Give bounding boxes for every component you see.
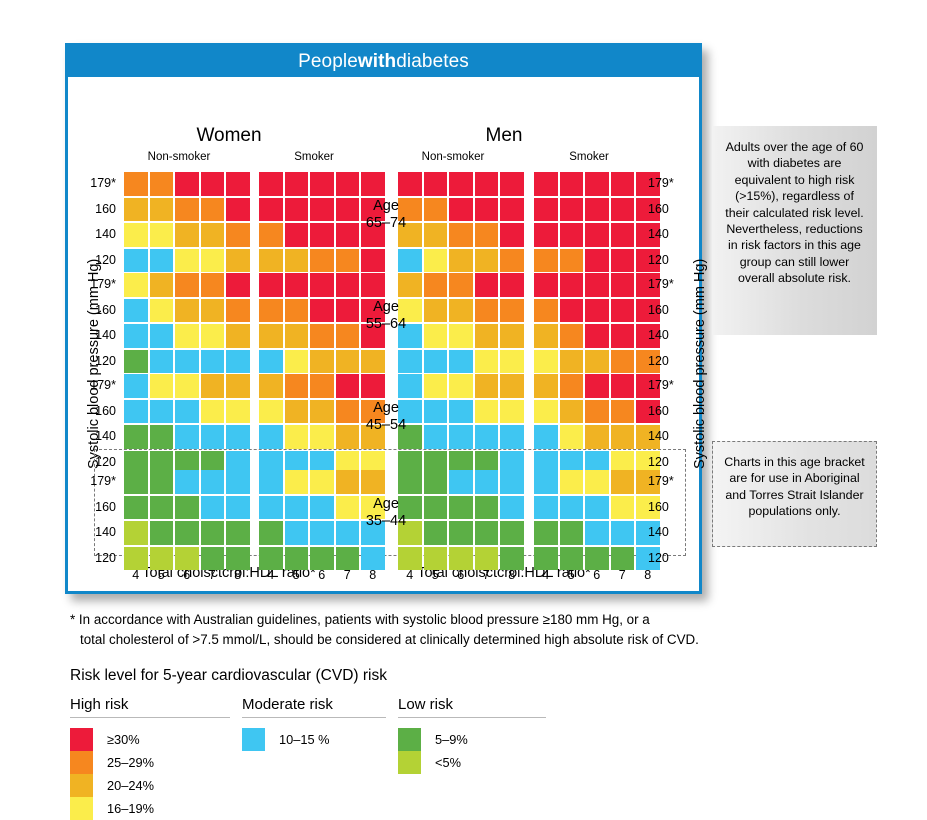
risk-cell xyxy=(475,273,499,297)
y-tick-label: 160 xyxy=(76,400,116,424)
risk-cell xyxy=(150,496,174,520)
risk-cell xyxy=(124,324,148,348)
x-tick-label: 7 xyxy=(336,568,360,582)
risk-cell xyxy=(285,198,309,222)
risk-cell xyxy=(201,172,225,196)
y-tick-label: 140 xyxy=(648,223,688,247)
risk-cell xyxy=(534,400,558,424)
risk-cell xyxy=(449,299,473,323)
x-tick-label: 6 xyxy=(449,568,473,582)
risk-cell xyxy=(611,249,635,273)
risk-cell xyxy=(361,350,385,374)
risk-cell xyxy=(534,299,558,323)
risk-cell xyxy=(475,374,499,398)
risk-cell xyxy=(124,299,148,323)
legend-items-low-risk: 5–9%<5% xyxy=(398,718,546,774)
legend-item: 20–24% xyxy=(70,774,230,797)
risk-cell xyxy=(611,223,635,247)
risk-cell xyxy=(500,249,524,273)
risk-cell xyxy=(398,350,422,374)
risk-cell xyxy=(475,400,499,424)
footnote-line-1: * In accordance with Australian guidelin… xyxy=(70,612,650,627)
risk-cell xyxy=(475,496,499,520)
risk-cell xyxy=(449,172,473,196)
risk-cell xyxy=(150,324,174,348)
risk-cell xyxy=(285,470,309,494)
risk-cell xyxy=(534,324,558,348)
risk-cell xyxy=(150,198,174,222)
risk-cell xyxy=(361,374,385,398)
y-axis-title-right: Systolic blood pressure (mm Hg) xyxy=(692,259,708,469)
risk-cell xyxy=(175,324,199,348)
risk-cell xyxy=(611,374,635,398)
risk-cell xyxy=(226,374,250,398)
risk-grid-women-nonsmoker-age-55-64 xyxy=(124,273,250,373)
risk-cell xyxy=(310,249,334,273)
risk-cell xyxy=(201,223,225,247)
legend-label: 20–24% xyxy=(107,778,154,793)
risk-cell xyxy=(500,273,524,297)
legend-column-low-risk: Low risk 5–9%<5% xyxy=(398,696,546,820)
y-tick-label: 140 xyxy=(648,324,688,348)
risk-cell xyxy=(310,470,334,494)
risk-cell xyxy=(285,172,309,196)
risk-cell xyxy=(175,374,199,398)
y-tick-label: 120 xyxy=(76,350,116,374)
risk-cell xyxy=(150,273,174,297)
risk-cell xyxy=(285,521,309,545)
legend-item: ≥30% xyxy=(70,728,230,751)
risk-cell xyxy=(226,400,250,424)
risk-cell xyxy=(175,223,199,247)
legend-column-high-risk: High risk ≥30%25–29%20–24%16–19% xyxy=(70,696,230,820)
y-tick-label: 160 xyxy=(648,400,688,424)
risk-cell xyxy=(226,470,250,494)
y-tick-label: 140 xyxy=(648,521,688,545)
risk-cell xyxy=(475,198,499,222)
risk-cell xyxy=(424,496,448,520)
risk-cell xyxy=(611,400,635,424)
risk-cell xyxy=(259,496,283,520)
legend-label: 25–29% xyxy=(107,755,154,770)
risk-cell xyxy=(424,425,448,449)
risk-cell xyxy=(475,172,499,196)
legend-swatch xyxy=(242,728,265,751)
risk-cell xyxy=(534,496,558,520)
y-tick-label: 179* xyxy=(648,273,688,297)
risk-cell xyxy=(500,350,524,374)
risk-cell xyxy=(585,374,609,398)
legend-heading-moderate-risk: Moderate risk xyxy=(242,696,386,718)
risk-cell xyxy=(500,470,524,494)
y-tick-label: 140 xyxy=(76,324,116,348)
risk-cell xyxy=(424,470,448,494)
y-tick-label: 160 xyxy=(76,299,116,323)
y-tick-label: 179* xyxy=(76,172,116,196)
risk-cell xyxy=(310,198,334,222)
risk-cell xyxy=(336,547,360,571)
risk-cell xyxy=(560,350,584,374)
risk-cell xyxy=(449,350,473,374)
y-tick-label: 140 xyxy=(76,223,116,247)
risk-cell xyxy=(585,496,609,520)
y-tick-label: 120 xyxy=(76,249,116,273)
legend-label: <5% xyxy=(435,755,461,770)
legend-items-high-risk: ≥30%25–29%20–24%16–19% xyxy=(70,718,230,820)
risk-cell xyxy=(124,470,148,494)
legend-item: <5% xyxy=(398,751,546,774)
risk-cell xyxy=(150,299,174,323)
risk-cell xyxy=(310,400,334,424)
card-title-emphasis: with xyxy=(358,51,396,73)
legend-item: 10–15 % xyxy=(242,728,386,751)
risk-cell xyxy=(500,374,524,398)
risk-cell xyxy=(534,425,558,449)
card-body: Women Men Non-smoker Smoker Non-smoker S… xyxy=(68,77,699,591)
risk-cell xyxy=(226,350,250,374)
risk-cell xyxy=(449,249,473,273)
age-label-line-1: Age xyxy=(346,496,426,513)
x-tick-row: 45678 xyxy=(259,568,385,582)
risk-cell xyxy=(310,350,334,374)
risk-cell xyxy=(475,425,499,449)
risk-cell xyxy=(560,400,584,424)
risk-cell xyxy=(150,350,174,374)
x-tick-label: 6 xyxy=(175,568,199,582)
risk-cell xyxy=(201,547,225,571)
risk-cell xyxy=(201,374,225,398)
y-tick-column-left: 179*160140120 xyxy=(76,374,116,474)
y-tick-label: 160 xyxy=(76,198,116,222)
risk-cell xyxy=(585,400,609,424)
risk-grid-men-smoker-age-45-54 xyxy=(534,374,660,474)
y-tick-label: 179* xyxy=(76,470,116,494)
legend-label: 10–15 % xyxy=(279,732,330,747)
risk-cell xyxy=(124,496,148,520)
legend-swatch xyxy=(70,797,93,820)
risk-cell xyxy=(124,521,148,545)
x-tick-label: 8 xyxy=(361,568,385,582)
y-tick-label: 160 xyxy=(648,198,688,222)
risk-cell xyxy=(259,249,283,273)
risk-cell xyxy=(150,223,174,247)
risk-cell xyxy=(585,299,609,323)
legend-column-moderate-risk: Moderate risk 10–15 % xyxy=(242,696,386,820)
y-tick-label: 160 xyxy=(648,496,688,520)
risk-cell xyxy=(500,521,524,545)
risk-cell xyxy=(150,400,174,424)
risk-cell xyxy=(175,350,199,374)
x-tick-label: 4 xyxy=(124,568,148,582)
legend-item: 5–9% xyxy=(398,728,546,751)
risk-cell xyxy=(285,350,309,374)
risk-cell xyxy=(611,470,635,494)
risk-cell xyxy=(475,521,499,545)
risk-cell xyxy=(560,198,584,222)
risk-cell xyxy=(336,374,360,398)
y-tick-column-right: 179*160140120 xyxy=(648,470,688,570)
risk-cell xyxy=(424,198,448,222)
risk-cell xyxy=(534,547,558,571)
risk-cell xyxy=(611,547,635,571)
risk-cell xyxy=(361,249,385,273)
risk-cell xyxy=(560,249,584,273)
risk-cell xyxy=(398,249,422,273)
risk-cell xyxy=(449,223,473,247)
risk-cell xyxy=(449,400,473,424)
risk-cell xyxy=(124,350,148,374)
risk-cell xyxy=(124,223,148,247)
risk-cell xyxy=(124,374,148,398)
y-tick-label: 140 xyxy=(648,425,688,449)
x-tick-row: 45678 xyxy=(124,568,250,582)
risk-cell xyxy=(500,425,524,449)
legend-swatch xyxy=(70,751,93,774)
risk-cell xyxy=(475,223,499,247)
risk-cell xyxy=(449,547,473,571)
risk-cell xyxy=(259,223,283,247)
risk-cell xyxy=(150,470,174,494)
x-tick-label: 5 xyxy=(560,568,584,582)
x-tick-label: 5 xyxy=(150,568,174,582)
risk-cell xyxy=(150,374,174,398)
risk-cell xyxy=(560,470,584,494)
legend-item: 16–19% xyxy=(70,797,230,820)
x-tick-label: 6 xyxy=(585,568,609,582)
risk-cell xyxy=(585,273,609,297)
risk-cell xyxy=(611,172,635,196)
risk-cell xyxy=(560,496,584,520)
legend-heading-low-risk: Low risk xyxy=(398,696,546,718)
heading-women: Women xyxy=(114,125,344,147)
y-tick-label: 179* xyxy=(76,374,116,398)
risk-cell xyxy=(310,273,334,297)
legend-label: 5–9% xyxy=(435,732,468,747)
heading-women-non-smoker: Non-smoker xyxy=(124,151,234,163)
age-label-line-2: 45–54 xyxy=(346,417,426,434)
legend-swatch xyxy=(398,751,421,774)
risk-cell xyxy=(585,425,609,449)
age-label-line-1: Age xyxy=(346,198,426,215)
risk-cell xyxy=(585,547,609,571)
risk-cell xyxy=(285,249,309,273)
risk-cell xyxy=(226,299,250,323)
y-tick-label: 120 xyxy=(76,547,116,571)
risk-cell xyxy=(226,273,250,297)
x-tick-row: 45678 xyxy=(398,568,524,582)
risk-cell xyxy=(175,299,199,323)
risk-cell xyxy=(449,496,473,520)
risk-cell xyxy=(175,172,199,196)
risk-cell xyxy=(611,521,635,545)
risk-cell xyxy=(361,172,385,196)
risk-cell xyxy=(449,425,473,449)
risk-cell xyxy=(611,273,635,297)
risk-cell xyxy=(201,496,225,520)
risk-cell xyxy=(500,198,524,222)
x-tick-label: 6 xyxy=(310,568,334,582)
risk-cell xyxy=(150,425,174,449)
footnote: * In accordance with Australian guidelin… xyxy=(70,610,770,650)
risk-cell xyxy=(449,374,473,398)
risk-cell xyxy=(124,547,148,571)
risk-cell xyxy=(175,496,199,520)
risk-cell xyxy=(424,324,448,348)
risk-cell xyxy=(124,249,148,273)
y-tick-column-right: 179*160140120 xyxy=(648,374,688,474)
risk-cell xyxy=(285,223,309,247)
risk-cell xyxy=(175,400,199,424)
risk-cell xyxy=(560,374,584,398)
y-tick-column-right: 179*160140120 xyxy=(648,273,688,373)
risk-cell xyxy=(398,547,422,571)
legend-swatch xyxy=(398,728,421,751)
risk-grid-women-nonsmoker-age-35-44 xyxy=(124,470,250,570)
y-tick-label: 140 xyxy=(76,425,116,449)
risk-cell xyxy=(226,521,250,545)
risk-cell xyxy=(201,400,225,424)
risk-cell xyxy=(124,400,148,424)
risk-cell xyxy=(361,547,385,571)
legend: Risk level for 5-year cardiovascular (CV… xyxy=(70,667,570,820)
risk-cell xyxy=(560,172,584,196)
risk-cell xyxy=(310,299,334,323)
risk-cell xyxy=(175,470,199,494)
risk-cell xyxy=(259,299,283,323)
risk-cell xyxy=(175,425,199,449)
risk-cell xyxy=(500,547,524,571)
risk-cell xyxy=(259,400,283,424)
risk-cell xyxy=(150,172,174,196)
legend-title: Risk level for 5-year cardiovascular (CV… xyxy=(70,667,570,685)
risk-cell xyxy=(175,521,199,545)
risk-cell xyxy=(124,425,148,449)
risk-cell xyxy=(226,425,250,449)
risk-cell xyxy=(534,521,558,545)
y-tick-column-left: 179*160140120 xyxy=(76,470,116,570)
card-title-prefix: People xyxy=(298,51,358,73)
heading-men: Men xyxy=(389,125,619,147)
legend-heading-high-risk: High risk xyxy=(70,696,230,718)
risk-cell xyxy=(285,425,309,449)
y-tick-label: 179* xyxy=(648,470,688,494)
risk-cell xyxy=(226,324,250,348)
risk-cell xyxy=(150,521,174,545)
risk-cell xyxy=(259,374,283,398)
risk-cell xyxy=(259,198,283,222)
risk-grid-men-smoker-age-65-74 xyxy=(534,172,660,272)
risk-cell xyxy=(424,547,448,571)
risk-cell xyxy=(336,273,360,297)
risk-cell xyxy=(534,223,558,247)
risk-cell xyxy=(336,350,360,374)
x-tick-label: 4 xyxy=(398,568,422,582)
x-tick-label: 8 xyxy=(226,568,250,582)
heading-men-smoker: Smoker xyxy=(534,151,644,163)
risk-cell xyxy=(475,547,499,571)
age-label-35-44: Age35–44 xyxy=(346,496,426,530)
y-tick-label: 160 xyxy=(648,299,688,323)
risk-cell xyxy=(361,470,385,494)
risk-cell xyxy=(534,172,558,196)
risk-cell xyxy=(500,223,524,247)
risk-cell xyxy=(611,350,635,374)
risk-cell xyxy=(560,223,584,247)
y-tick-label: 120 xyxy=(648,249,688,273)
risk-cell xyxy=(310,223,334,247)
risk-cell xyxy=(475,324,499,348)
risk-cell xyxy=(424,249,448,273)
x-tick-label: 7 xyxy=(611,568,635,582)
risk-cell xyxy=(259,425,283,449)
risk-cell xyxy=(611,324,635,348)
legend-label: ≥30% xyxy=(107,732,140,747)
risk-cell xyxy=(201,299,225,323)
x-tick-row: 45678 xyxy=(534,568,660,582)
risk-cell xyxy=(398,172,422,196)
risk-cell xyxy=(201,249,225,273)
risk-cell xyxy=(449,521,473,545)
heading-women-smoker: Smoker xyxy=(259,151,369,163)
risk-cell xyxy=(475,249,499,273)
y-tick-label: 179* xyxy=(648,374,688,398)
age-label-line-2: 35–44 xyxy=(346,513,426,530)
y-tick-label: 120 xyxy=(648,350,688,374)
y-tick-label: 120 xyxy=(648,547,688,571)
risk-cell xyxy=(449,198,473,222)
risk-cell xyxy=(259,273,283,297)
risk-cell xyxy=(424,223,448,247)
risk-cell xyxy=(424,299,448,323)
risk-cell xyxy=(585,172,609,196)
risk-cell xyxy=(175,198,199,222)
age-label-line-1: Age xyxy=(346,400,426,417)
risk-cell xyxy=(175,249,199,273)
risk-cell xyxy=(226,547,250,571)
age-label-line-2: 65–74 xyxy=(346,215,426,232)
risk-cell xyxy=(361,273,385,297)
risk-cell xyxy=(310,521,334,545)
risk-cell xyxy=(424,374,448,398)
risk-cell xyxy=(424,521,448,545)
risk-cell xyxy=(500,172,524,196)
risk-cell xyxy=(398,273,422,297)
risk-grid-women-nonsmoker-age-45-54 xyxy=(124,374,250,474)
risk-cell xyxy=(585,223,609,247)
risk-cell xyxy=(534,470,558,494)
age-label-55-64: Age55–64 xyxy=(346,299,426,333)
risk-cell xyxy=(226,223,250,247)
risk-cell xyxy=(285,496,309,520)
x-tick-label: 8 xyxy=(636,568,660,582)
risk-cell xyxy=(259,547,283,571)
risk-cell xyxy=(259,470,283,494)
legend-items-moderate-risk: 10–15 % xyxy=(242,718,386,751)
risk-cell xyxy=(585,521,609,545)
risk-cell xyxy=(500,324,524,348)
risk-cell xyxy=(310,547,334,571)
risk-cell xyxy=(201,324,225,348)
legend-item: 25–29% xyxy=(70,751,230,774)
risk-cell xyxy=(201,521,225,545)
risk-cell xyxy=(175,547,199,571)
risk-cell xyxy=(336,470,360,494)
risk-cell xyxy=(285,400,309,424)
note-panel-over-60: Adults over the age of 60 with diabetes … xyxy=(712,126,877,335)
legend-swatch xyxy=(70,728,93,751)
age-label-line-1: Age xyxy=(346,299,426,316)
risk-cell xyxy=(611,425,635,449)
